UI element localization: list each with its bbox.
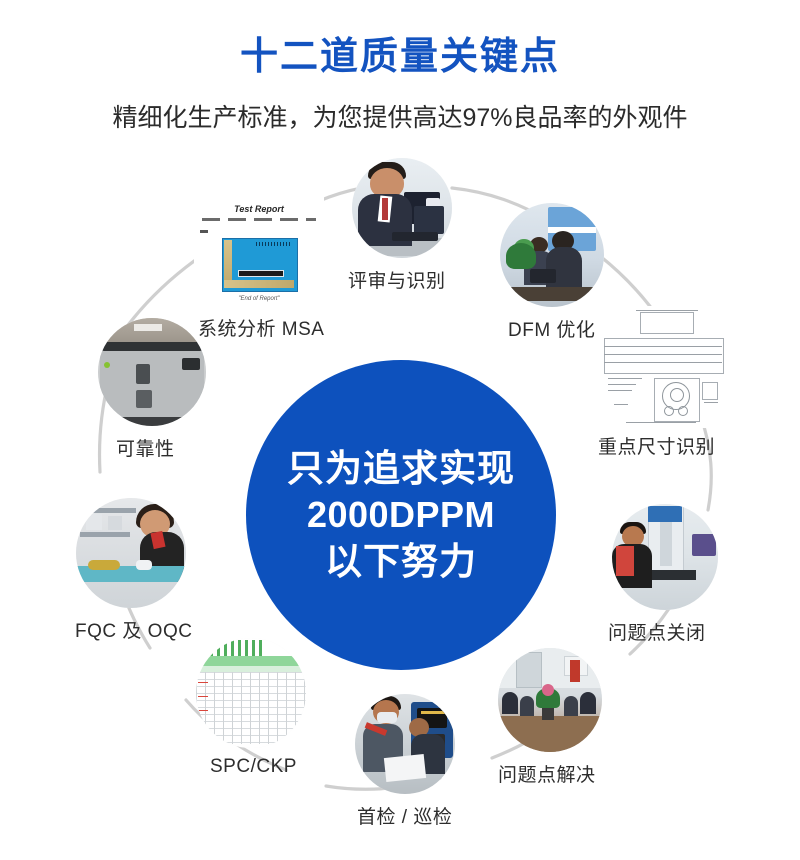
node-msa-system-analysis[interactable]: Test Report "End of Report" 系统分析 MSA	[194, 192, 324, 310]
spc-spreadsheet-image	[196, 638, 306, 748]
man-at-desk-photo	[352, 158, 452, 258]
dimension-drawing-image	[596, 306, 732, 428]
node-label-key-dimension-identification: 重点尺寸识别	[598, 432, 715, 459]
test-report-title: Test Report	[194, 204, 324, 214]
team-at-laptops-photo	[500, 203, 604, 307]
node-label-first-article-patrol-inspection: 首检 / 巡检	[357, 802, 452, 829]
hub-line-1: 只为追求实现	[287, 445, 515, 492]
hub-line-2: 2000DPPM	[307, 492, 495, 538]
node-spc-ckp[interactable]: SPC/CKP	[196, 638, 306, 748]
center-hub: 只为追求实现 2000DPPM 以下努力	[246, 360, 556, 670]
hub-line-3: 以下努力	[325, 538, 477, 585]
node-key-dimension-identification[interactable]: 重点尺寸识别	[596, 306, 732, 428]
quality-cycle-diagram: 只为追求实现 2000DPPM 以下努力 评审与识别 DFM 优化	[0, 148, 800, 860]
cmm-operator-photo	[612, 504, 718, 610]
test-report-caption: "End of Report"	[194, 296, 324, 302]
test-report-document-image: Test Report "End of Report"	[194, 192, 324, 310]
node-label-dfm-optimization: DFM 优化	[508, 315, 595, 342]
page-header: 十二道质量关键点 精细化生产标准，为您提供高达97%良品率的外观件	[0, 0, 800, 134]
node-label-issue-resolution: 问题点解决	[498, 760, 596, 787]
node-dfm-optimization[interactable]: DFM 优化	[500, 203, 604, 307]
node-label-spc-ckp: SPC/CKP	[210, 756, 297, 778]
reliability-chamber-photo	[98, 318, 206, 426]
meeting-room-photo	[498, 648, 602, 752]
page-title: 十二道质量关键点	[0, 38, 800, 76]
node-label-reliability: 可靠性	[116, 434, 175, 461]
node-label-msa-system-analysis: 系统分析 MSA	[198, 314, 324, 341]
node-issue-resolution[interactable]: 问题点解决	[498, 648, 602, 752]
node-review-identify[interactable]: 评审与识别	[352, 158, 452, 258]
node-first-article-patrol-inspection[interactable]: 首检 / 巡检	[355, 694, 455, 794]
qc-worker-photo	[76, 498, 186, 608]
node-reliability[interactable]: 可靠性	[98, 318, 206, 426]
cnc-inspection-photo	[355, 694, 455, 794]
node-label-fqc-oqc: FQC 及 OQC	[75, 616, 192, 643]
page-subtitle: 精细化生产标准，为您提供高达97%良品率的外观件	[0, 98, 800, 134]
node-label-review-identify: 评审与识别	[348, 266, 446, 293]
node-fqc-oqc[interactable]: FQC 及 OQC	[76, 498, 186, 608]
node-issue-closure[interactable]: 问题点关闭	[612, 504, 718, 610]
node-label-issue-closure: 问题点关闭	[608, 618, 706, 645]
